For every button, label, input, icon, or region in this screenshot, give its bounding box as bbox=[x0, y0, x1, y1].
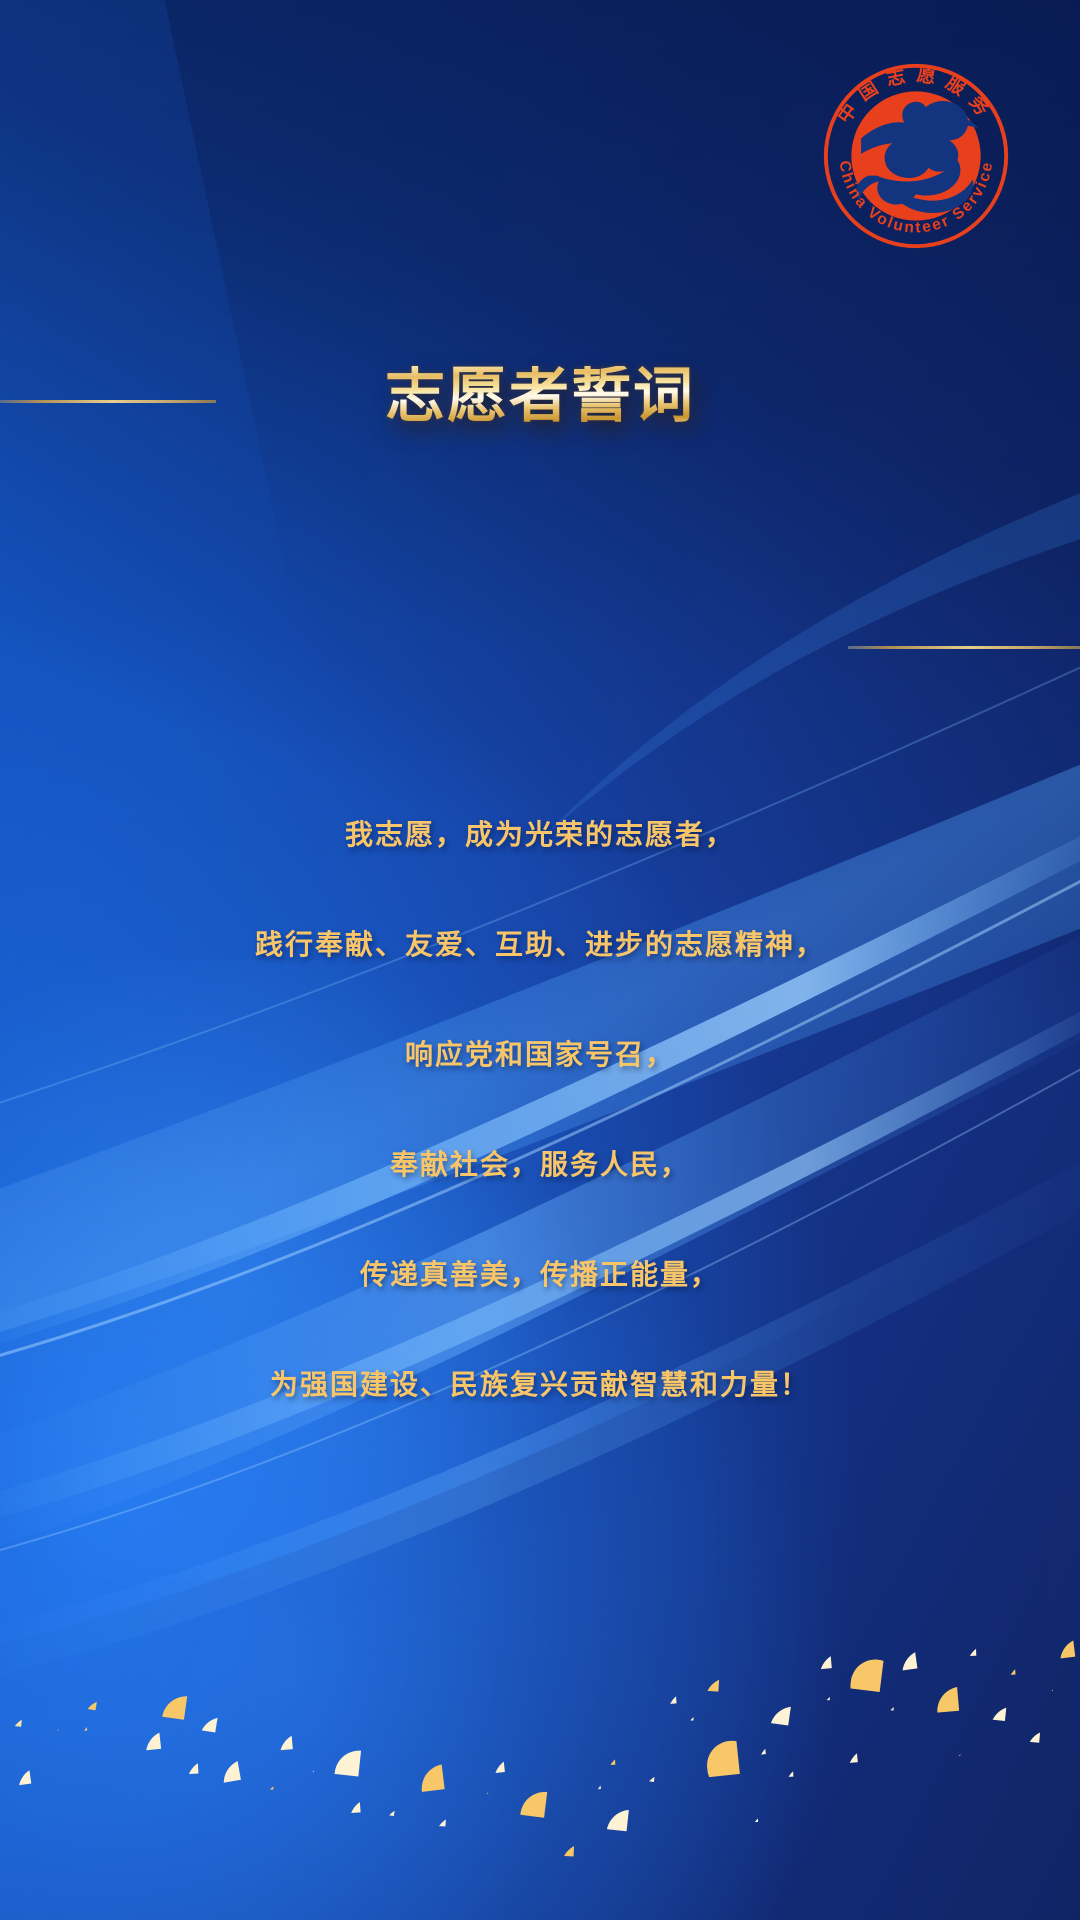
heart-shape bbox=[985, 1699, 1007, 1721]
heart-icon bbox=[290, 1700, 303, 1713]
heart-icon bbox=[9, 1764, 32, 1787]
heart-shape bbox=[341, 1794, 360, 1813]
heart-shape bbox=[213, 1756, 241, 1784]
heart-shape bbox=[79, 1691, 99, 1711]
heart-icon bbox=[180, 1756, 199, 1775]
heart-icon bbox=[500, 1810, 511, 1821]
heart-icon bbox=[156, 1688, 188, 1720]
heart-icon bbox=[137, 1727, 161, 1751]
oath-line: 为强国建设、民族复兴贡献智慧和力量！ bbox=[0, 1330, 1080, 1440]
heart-icon bbox=[105, 1747, 116, 1758]
heart-shape bbox=[412, 1760, 444, 1792]
heart-icon bbox=[999, 1659, 1015, 1675]
heart-icon bbox=[601, 1803, 630, 1832]
heart-icon bbox=[379, 1799, 396, 1816]
heart-icon bbox=[816, 1686, 830, 1700]
heart-shape bbox=[34, 1718, 45, 1729]
heart-icon bbox=[880, 1696, 895, 1711]
heart-icon bbox=[537, 1809, 550, 1822]
heart-icon bbox=[213, 1756, 241, 1784]
heart-icon bbox=[585, 1775, 601, 1791]
heart-shape bbox=[475, 1779, 490, 1794]
heart-icon bbox=[341, 1794, 360, 1813]
heart-icon bbox=[475, 1779, 490, 1794]
heart-shape bbox=[929, 1683, 959, 1713]
heart-shape bbox=[299, 1759, 314, 1774]
heart-shape bbox=[839, 1745, 858, 1764]
heart-icon bbox=[79, 1691, 99, 1711]
heart-shape bbox=[764, 1698, 791, 1725]
heart-shape bbox=[87, 1754, 100, 1767]
china-volunteer-service-logo: 中国志愿服务 China Volunteer Service bbox=[818, 58, 1014, 254]
gold-divider-right bbox=[848, 646, 1080, 649]
heart-icon bbox=[839, 1745, 858, 1764]
heart-icon bbox=[844, 1652, 884, 1692]
heart-shape bbox=[749, 1739, 766, 1756]
heart-shape bbox=[960, 1640, 977, 1657]
heart-icon bbox=[259, 1774, 275, 1790]
heart-icon bbox=[87, 1754, 100, 1767]
heart-icon bbox=[1051, 1635, 1076, 1660]
heart-icon bbox=[791, 1717, 804, 1730]
heart-shape bbox=[5, 1709, 23, 1727]
heart-shape bbox=[356, 1814, 367, 1825]
heart-icon bbox=[34, 1718, 45, 1729]
heart-icon bbox=[412, 1760, 444, 1792]
heart-shape bbox=[514, 1784, 547, 1817]
oath-line: 响应党和国家号召， bbox=[0, 1000, 1080, 1110]
heart-icon bbox=[659, 1687, 676, 1704]
heart-icon bbox=[45, 1718, 59, 1732]
heart-shape bbox=[778, 1762, 794, 1778]
heart-icon bbox=[764, 1698, 791, 1725]
oath-line: 我志愿，成为光荣的志愿者， bbox=[0, 780, 1080, 890]
heart-icon bbox=[744, 1808, 758, 1822]
heart-icon bbox=[556, 1838, 575, 1857]
heart-shape bbox=[71, 1717, 88, 1734]
heart-shape bbox=[1021, 1723, 1041, 1743]
heart-shape bbox=[1040, 1678, 1053, 1691]
heart-shape bbox=[180, 1756, 199, 1775]
heart-shape bbox=[880, 1696, 895, 1711]
oath-line: 奉献社会，服务人民， bbox=[0, 1110, 1080, 1220]
heart-shape bbox=[906, 1726, 919, 1739]
heart-shape bbox=[999, 1659, 1015, 1675]
heart-shape bbox=[844, 1652, 884, 1692]
heart-shape bbox=[500, 1810, 511, 1821]
logo-svg: 中国志愿服务 China Volunteer Service bbox=[818, 58, 1014, 254]
oath-line: 践行奉献、友爱、互助、进步的志愿精神， bbox=[0, 890, 1080, 1000]
heart-icon bbox=[222, 1762, 234, 1774]
heart-shape bbox=[485, 1754, 505, 1774]
heart-shape bbox=[698, 1736, 740, 1778]
heart-shape bbox=[816, 1686, 830, 1700]
heart-shape bbox=[744, 1808, 758, 1822]
heart-shape bbox=[271, 1729, 293, 1751]
heart-icon bbox=[639, 1765, 656, 1782]
heart-icon bbox=[429, 1809, 446, 1826]
heart-shape bbox=[585, 1775, 601, 1791]
heart-shape bbox=[429, 1809, 446, 1826]
heart-icon bbox=[1040, 1678, 1053, 1691]
heart-icon bbox=[71, 1717, 88, 1734]
heart-shape bbox=[679, 1705, 694, 1720]
heart-shape bbox=[259, 1774, 275, 1790]
heart-icon bbox=[299, 1759, 314, 1774]
heart-icon bbox=[600, 1750, 616, 1766]
heart-shape bbox=[659, 1687, 676, 1704]
heart-icon bbox=[1021, 1723, 1041, 1743]
heart-shape bbox=[811, 1649, 832, 1670]
heart-icon bbox=[778, 1762, 794, 1778]
heart-icon bbox=[271, 1729, 293, 1751]
heart-icon bbox=[960, 1640, 977, 1657]
heart-shape bbox=[290, 1700, 303, 1713]
heart-shape bbox=[601, 1803, 630, 1832]
heart-icon bbox=[826, 1714, 837, 1725]
heart-shape bbox=[9, 1764, 32, 1787]
heart-icon bbox=[906, 1726, 919, 1739]
heart-shape bbox=[156, 1688, 188, 1720]
heart-icon bbox=[329, 1744, 362, 1777]
heart-icon bbox=[485, 1754, 505, 1774]
poster-canvas: 中国志愿服务 China Volunteer Service 志愿者誓词 我志愿… bbox=[0, 0, 1080, 1920]
heart-icon bbox=[749, 1739, 766, 1756]
heart-icon bbox=[356, 1814, 367, 1825]
heart-icon bbox=[194, 1708, 218, 1732]
heart-icon bbox=[5, 1709, 23, 1727]
heart-shape bbox=[45, 1718, 59, 1732]
heart-shape bbox=[600, 1750, 616, 1766]
heart-shape bbox=[194, 1708, 218, 1732]
heart-shape bbox=[947, 1741, 961, 1755]
heart-shape bbox=[537, 1809, 550, 1822]
heart-icon bbox=[679, 1705, 694, 1720]
page-title: 志愿者誓词 bbox=[0, 366, 1080, 426]
heart-shape bbox=[826, 1714, 837, 1725]
heart-shape bbox=[791, 1717, 804, 1730]
heart-shape bbox=[893, 1647, 918, 1672]
heart-icon bbox=[947, 1741, 961, 1755]
heart-shape bbox=[137, 1727, 161, 1751]
heart-shape bbox=[452, 1790, 465, 1803]
heart-icon bbox=[811, 1649, 832, 1670]
heart-shape bbox=[222, 1762, 234, 1774]
heart-shape bbox=[105, 1747, 116, 1758]
heart-icon bbox=[893, 1647, 918, 1672]
heart-shape bbox=[379, 1799, 396, 1816]
heart-icon bbox=[452, 1790, 465, 1803]
heart-shape bbox=[699, 1671, 719, 1691]
heart-shape bbox=[1051, 1635, 1076, 1660]
heart-icon bbox=[698, 1736, 740, 1778]
heart-shape bbox=[556, 1838, 575, 1857]
oath-text-block: 我志愿，成为光荣的志愿者， 践行奉献、友爱、互助、进步的志愿精神， 响应党和国家… bbox=[0, 780, 1080, 1440]
heart-icon bbox=[699, 1671, 719, 1691]
oath-line: 传递真善美，传播正能量， bbox=[0, 1220, 1080, 1330]
heart-icon bbox=[514, 1784, 547, 1817]
heart-icon bbox=[985, 1699, 1007, 1721]
heart-shape bbox=[639, 1765, 656, 1782]
heart-icon bbox=[929, 1683, 959, 1713]
heart-shape bbox=[329, 1744, 362, 1777]
